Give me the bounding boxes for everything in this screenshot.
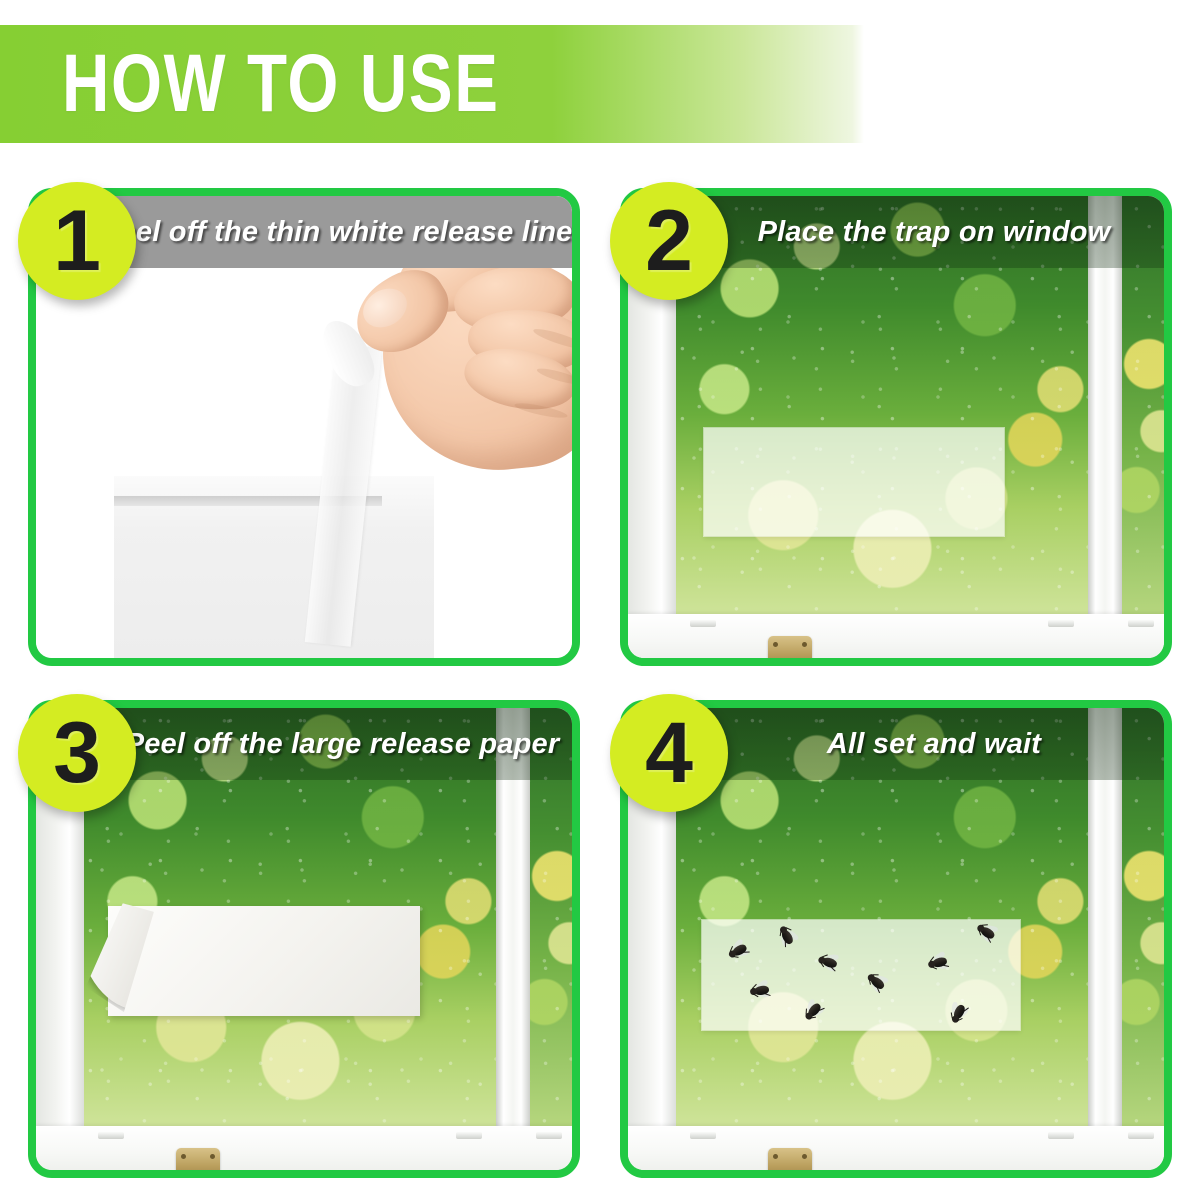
step-4-caption-text: All set and wait xyxy=(827,728,1041,761)
sash-clip-right xyxy=(456,1132,482,1139)
step-3-caption-text: Peel off the large release paper xyxy=(125,728,560,761)
sash-clip-left xyxy=(98,1132,124,1139)
step-2-caption-text: Place the trap on window xyxy=(758,216,1111,249)
fly-trap-clear xyxy=(704,428,1004,536)
sash-clip-right xyxy=(1048,620,1074,627)
step-2-number: 2 xyxy=(645,198,693,284)
window-latch xyxy=(768,636,812,658)
step-4-number: 4 xyxy=(645,710,693,796)
large-release-paper xyxy=(108,906,420,1016)
step-1-badge: 1 xyxy=(18,182,136,300)
window-latch xyxy=(768,1148,812,1170)
sash-clip-left xyxy=(690,1132,716,1139)
sash-clip-side xyxy=(1128,620,1154,627)
step-1-number: 1 xyxy=(53,198,101,284)
window-latch xyxy=(176,1148,220,1170)
step-2-badge: 2 xyxy=(610,182,728,300)
sash-clip-left xyxy=(690,620,716,627)
sash-clip-side xyxy=(1128,1132,1154,1139)
fly-trap-clear xyxy=(702,920,1020,1030)
step-3-number: 3 xyxy=(53,710,101,796)
sash-clip-side xyxy=(536,1132,562,1139)
step-1-caption-text: Peel off the thin white release liner xyxy=(100,216,580,249)
sash-clip-right xyxy=(1048,1132,1074,1139)
step-3-badge: 3 xyxy=(18,694,136,812)
step-4-badge: 4 xyxy=(610,694,728,812)
page-title: HOW TO USE xyxy=(62,36,500,132)
